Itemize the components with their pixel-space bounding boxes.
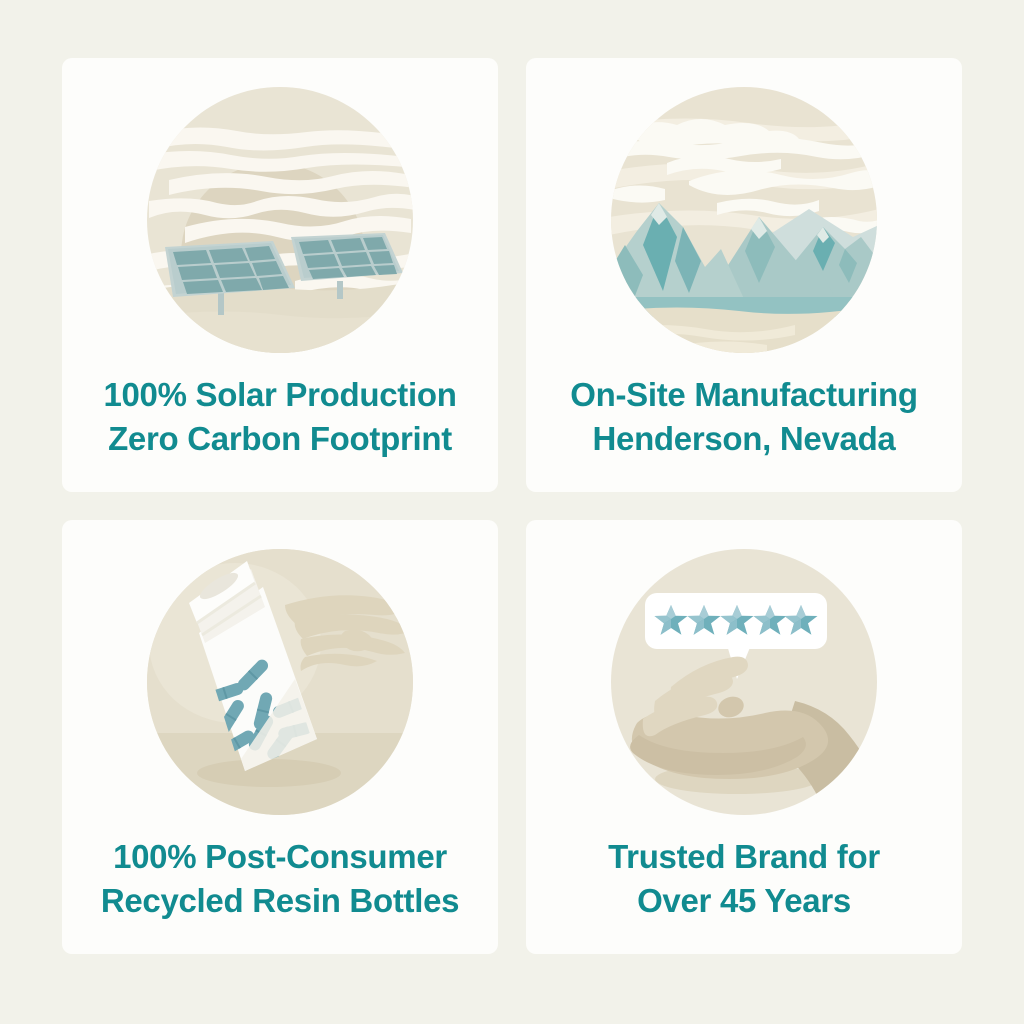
mountain-landscape-illustration (609, 85, 879, 355)
card-caption-solar-production: 100% Solar Production Zero Carbon Footpr… (62, 373, 498, 461)
recycled-bottle-illustration (145, 547, 415, 817)
hand-with-five-star-rating-illustration (609, 547, 879, 817)
caption-line-1: 100% Solar Production (103, 376, 456, 413)
feature-card-trusted-brand[interactable]: Trusted Brand for Over 45 Years (526, 520, 962, 954)
caption-line-2: Zero Carbon Footprint (62, 417, 498, 461)
caption-line-1: On-Site Manufacturing (570, 376, 918, 413)
card-caption-on-site-manufacturing: On-Site Manufacturing Henderson, Nevada (526, 373, 962, 461)
card-caption-post-consumer-resin: 100% Post-Consumer Recycled Resin Bottle… (62, 835, 498, 923)
caption-line-1: 100% Post-Consumer (113, 838, 447, 875)
feature-card-grid: 100% Solar Production Zero Carbon Footpr… (62, 58, 962, 956)
feature-card-on-site-manufacturing[interactable]: On-Site Manufacturing Henderson, Nevada (526, 58, 962, 492)
caption-line-1: Trusted Brand for (608, 838, 880, 875)
caption-line-2: Henderson, Nevada (526, 417, 962, 461)
feature-card-post-consumer-resin[interactable]: 100% Post-Consumer Recycled Resin Bottle… (62, 520, 498, 954)
card-caption-trusted-brand: Trusted Brand for Over 45 Years (526, 835, 962, 923)
caption-line-2: Over 45 Years (526, 879, 962, 923)
solar-panels-illustration (145, 85, 415, 355)
feature-card-solar-production[interactable]: 100% Solar Production Zero Carbon Footpr… (62, 58, 498, 492)
caption-line-2: Recycled Resin Bottles (62, 879, 498, 923)
